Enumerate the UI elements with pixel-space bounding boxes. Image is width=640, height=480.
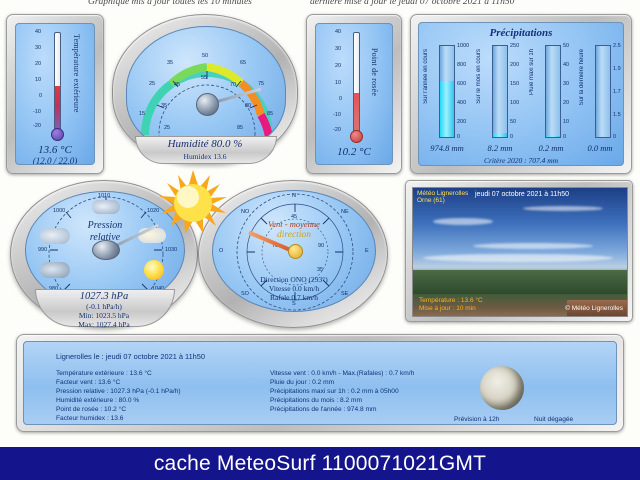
humidity-inner-tick: 55 — [201, 75, 207, 81]
webcam-horizon-treeline — [413, 270, 627, 294]
pressure-tick: 1010 — [98, 193, 110, 199]
precip-tick: 200 — [457, 119, 466, 125]
wind-cardinal-o: O — [219, 248, 223, 254]
dewpoint-bulb — [350, 130, 363, 143]
wind-direction-text: Direction ONO (293°) — [213, 275, 375, 284]
precip-tick: 600 — [457, 81, 466, 87]
precipitation-panel[interactable]: Précipitations Sur l'année en cours 1000… — [410, 14, 632, 174]
precip-tick: 40 — [563, 62, 569, 68]
dewpoint-tick: 40 — [335, 29, 341, 35]
temperature-axis-label: Température extérieure — [72, 34, 81, 113]
cloud-top-icon — [92, 200, 120, 214]
humidity-inner-tick: 80 — [245, 103, 251, 109]
wind-title-line2: direction — [213, 230, 375, 240]
webcam-station-name: Météo Lignerolles — [417, 190, 468, 197]
webcam-cloud — [423, 254, 613, 262]
precip-label-max1h: Pluie maxi sur 1h — [529, 49, 535, 95]
humidity-inner-tick: 70 — [230, 82, 236, 88]
header-last-update: dernière mise à jour le jeudi 07 octobre… — [310, 0, 514, 7]
precip-bar-lasthour — [595, 45, 611, 138]
webcam-update-overlay: Mise à jour : 10 min — [419, 305, 476, 312]
temperature-inner: Température extérieure 40 30 20 10 0 -10… — [15, 23, 95, 165]
precip-bar-max1h — [545, 45, 561, 138]
webcam-cloud — [523, 206, 603, 211]
cloud-storm-icon — [40, 262, 70, 278]
temperature-mercury — [55, 86, 60, 131]
precip-tick: 100 — [510, 100, 519, 106]
dewpoint-tick: 0 — [339, 96, 342, 102]
summary-panel[interactable]: Lignerolles le : jeudi 07 octobre 2021 à… — [16, 334, 624, 432]
humidity-tick: 75 — [258, 81, 264, 87]
wind-gauge-hub — [288, 244, 303, 259]
dewpoint-tick: 20 — [335, 63, 341, 69]
dewpoint-tick: -10 — [333, 112, 341, 118]
summary-left-line: Pression relative : 1027.3 hPa (-0.1 hPa… — [56, 388, 181, 395]
dewpoint-tick: 30 — [335, 46, 341, 52]
temperature-tick: 30 — [35, 45, 41, 51]
humidity-inner-tick: 85 — [237, 125, 243, 131]
pressure-gauge-hub — [92, 240, 120, 260]
humidity-tick: 50 — [202, 53, 208, 59]
temperature-tick: 0 — [39, 93, 42, 99]
wind-speed-text: Vitesse 0.0 km/h — [213, 284, 375, 293]
precip-tick: 2.5 — [613, 43, 621, 49]
pressure-tick: 990 — [38, 247, 47, 253]
precip-tick: 10 — [563, 119, 569, 125]
webcam-image[interactable]: Météo Lignerolles Orne (61) jeudi 07 oct… — [412, 187, 628, 317]
forecast-label: Prévision à 12h — [454, 416, 499, 423]
temperature-tick: -10 — [33, 109, 41, 115]
humidity-inner-tick: 45 — [174, 82, 180, 88]
wind-gust-text: Rafale 0.7 km/h — [213, 293, 375, 302]
summary-left-line: Facteur humidex : 13.6 — [56, 415, 123, 422]
pressure-tick: 1030 — [165, 247, 177, 253]
webcam-copyright: © Météo Lignerolles — [565, 305, 623, 312]
header-update-interval: Graphique mis à jour toutes les 10 minut… — [88, 0, 252, 7]
webcam-temperature-overlay: Température : 13.6 °C — [419, 297, 483, 304]
wind-degree-tick: 90 — [318, 243, 324, 249]
dewpoint-panel[interactable]: Point de rosée 40 30 20 10 0 -10 -20 10.… — [306, 14, 402, 174]
pressure-trend: (-0.1 hPa/h) — [11, 302, 197, 311]
precip-value-lasthour: 0.0 mm — [574, 143, 624, 153]
temperature-panel[interactable]: Température extérieure 40 30 20 10 0 -10… — [6, 14, 104, 174]
humidity-tick: 35 — [167, 60, 173, 66]
webcam-panel[interactable]: Météo Lignerolles Orne (61) jeudi 07 oct… — [405, 180, 633, 322]
precip-tick: 200 — [510, 62, 519, 68]
temperature-bulb — [51, 128, 64, 141]
summary-left-line: Température extérieure : 13.6 °C — [56, 370, 152, 377]
wind-cardinal-ne: NE — [341, 209, 349, 215]
summary-right-line: Précipitations de l'année : 974.8 mm — [270, 406, 376, 413]
temperature-tube — [54, 32, 61, 132]
summary-right-line: Précipitations du mois : 8.2 mm — [270, 397, 362, 404]
webcam-cloud — [433, 218, 493, 225]
precip-value-month: 8.2 mm — [474, 143, 526, 153]
summary-left-line: Facteur vent : 13.6 °C — [56, 379, 120, 386]
sun-decoration-icon — [158, 168, 228, 238]
precip-value-max1h: 0.2 mm — [525, 143, 577, 153]
precip-tick: 1000 — [457, 43, 469, 49]
precip-tick: 1.9 — [613, 66, 621, 72]
wind-gauge-face: N S E O NO NE SO SE 45 70 90 35 Vent - m… — [212, 190, 376, 312]
temperature-tick: 40 — [35, 29, 41, 35]
precip-tick: 30 — [563, 81, 569, 87]
pressure-min: Min: 1023.5 hPa — [11, 311, 197, 320]
precip-tick: 50 — [563, 43, 569, 49]
humidity-tick: 15 — [139, 111, 145, 117]
precip-bar-year — [439, 45, 455, 138]
precip-fill-max1h — [546, 136, 560, 137]
pressure-value: 1027.3 hPa — [11, 291, 197, 302]
summary-left-line: Point de rosée : 10.2 °C — [56, 406, 126, 413]
precip-tick: 250 — [510, 43, 519, 49]
humidity-inner-tick: 25 — [164, 125, 170, 131]
precip-tick: 400 — [457, 100, 466, 106]
webcam-cloud — [473, 243, 593, 249]
temperature-tick: 10 — [35, 77, 41, 83]
top-header-strip: Graphique mis à jour toutes les 10 minut… — [0, 0, 640, 10]
precip-label-lasthour: Sur la dernière heure — [579, 49, 585, 105]
precip-tick: 0 — [563, 134, 566, 140]
humidity-tick: 85 — [267, 111, 273, 117]
wind-degree-tick: 35 — [317, 267, 323, 273]
precip-tick: 20 — [563, 100, 569, 106]
humidity-tick: 65 — [240, 60, 246, 66]
wind-cardinal-no: NO — [241, 209, 249, 215]
pressure-max: Max: 1027.4 hPa — [11, 320, 197, 329]
wind-title-line1: Vent - moyenne — [213, 219, 375, 229]
dewpoint-tick: -20 — [333, 127, 341, 133]
sun-icon — [144, 260, 164, 280]
precip-tick: 50 — [510, 119, 516, 125]
cache-label: cache MeteoSurf 1100071021GMT — [154, 452, 486, 476]
precip-label-month: Sur le mois en cours — [476, 49, 482, 104]
cloud-rain-icon — [40, 228, 70, 244]
forecast-text: Nuit dégagée — [534, 416, 573, 423]
precipitation-title: Précipitations — [419, 27, 623, 39]
summary-left-line: Humidité extérieure : 80.0 % — [56, 397, 139, 404]
pressure-tick: 1000 — [53, 208, 65, 214]
dewpoint-inner: Point de rosée 40 30 20 10 0 -10 -20 10.… — [315, 23, 393, 165]
humidity-gauge[interactable]: 50 35 65 25 75 15 85 5 95 55 45 70 35 80… — [112, 14, 298, 164]
precip-fill-year — [440, 81, 454, 137]
precip-tick: 0 — [613, 134, 616, 140]
humidity-gauge-hub — [196, 93, 219, 116]
precip-fill-month — [493, 133, 507, 137]
precip-bar-month — [492, 45, 508, 138]
temperature-tick: -20 — [33, 123, 41, 129]
dewpoint-mercury — [354, 93, 359, 133]
wind-cardinal-n: N — [292, 193, 296, 199]
precip-tick: 1.5 — [613, 112, 621, 118]
bottom-status-bar: cache MeteoSurf 1100071021GMT — [0, 447, 640, 480]
temperature-tick: 20 — [35, 61, 41, 67]
humidity-tick: 25 — [149, 81, 155, 87]
moon-phase-icon — [480, 366, 524, 410]
temperature-value: 13.6 °C — [16, 144, 94, 156]
humidity-subtitle: Humidex 13.6 — [113, 152, 297, 161]
summary-title: Lignerolles le : jeudi 07 octobre 2021 à… — [56, 352, 205, 361]
precip-tick: 0 — [457, 134, 460, 140]
precip-tick: 0 — [510, 134, 513, 140]
dewpoint-value: 10.2 °C — [316, 146, 392, 158]
summary-right-line: Précipitations maxi sur 1h : 0.2 mm à 05… — [270, 388, 399, 395]
precipitation-criteria: Critère 2020 : 707.4 mm — [419, 156, 623, 165]
precipitation-inner: Précipitations Sur l'année en cours 1000… — [418, 22, 624, 166]
wind-cardinal-e: E — [365, 248, 369, 254]
precip-tick: 1.7 — [613, 89, 621, 95]
dewpoint-tick: 10 — [335, 80, 341, 86]
humidity-scale-arc — [127, 27, 286, 154]
dewpoint-axis-label: Point de rosée — [370, 48, 379, 96]
summary-right-line: Pluie du jour : 0.2 mm — [270, 379, 334, 386]
dewpoint-tube — [353, 32, 360, 134]
precip-tick: 150 — [510, 81, 519, 87]
precip-label-year: Sur l'année en cours — [423, 49, 429, 104]
precip-value-year: 974.8 mm — [421, 143, 473, 153]
humidity-inner-tick: 35 — [161, 103, 167, 109]
temperature-minmax: (12.0 / 22.0) — [16, 156, 94, 165]
humidity-gauge-face: 50 35 65 25 75 15 85 5 95 55 45 70 35 80… — [126, 26, 286, 154]
precip-tick: 800 — [457, 62, 466, 68]
summary-inner: Lignerolles le : jeudi 07 octobre 2021 à… — [23, 341, 617, 425]
humidity-title: Humidité 80.0 % — [113, 138, 297, 150]
webcam-station-region: Orne (61) — [417, 197, 445, 204]
summary-right-line: Vitesse vent : 0.0 km/h - Max.(Rafales) … — [270, 370, 414, 377]
webcam-timestamp: jeudi 07 octobre 2021 à 11h50 — [475, 191, 569, 198]
